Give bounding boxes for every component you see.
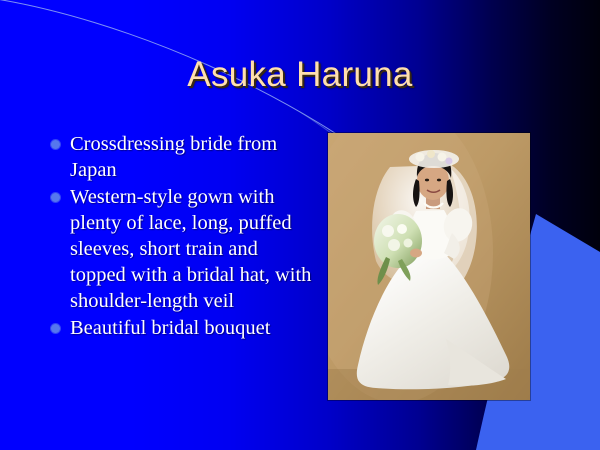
list-item-label: Beautiful bridal bouquet — [70, 315, 312, 341]
list-item-label: Crossdressing bride from Japan — [70, 131, 312, 183]
list-item: Beautiful bridal bouquet — [44, 315, 312, 341]
list-item: Crossdressing bride from Japan — [44, 131, 312, 183]
bullet-icon — [51, 324, 60, 333]
bride-photo-illustration — [328, 133, 530, 400]
bullet-icon — [51, 140, 60, 149]
presentation-slide: Asuka Haruna Crossdressing bride from Ja… — [0, 0, 600, 450]
page-title: Asuka Haruna — [0, 54, 600, 96]
bullet-list: Crossdressing bride from Japan Western-s… — [44, 131, 312, 342]
list-item: Western-style gown with plenty of lace, … — [44, 184, 312, 314]
list-item-label: Western-style gown with plenty of lace, … — [70, 184, 312, 314]
bride-photo — [328, 133, 530, 400]
bullet-icon — [51, 193, 60, 202]
